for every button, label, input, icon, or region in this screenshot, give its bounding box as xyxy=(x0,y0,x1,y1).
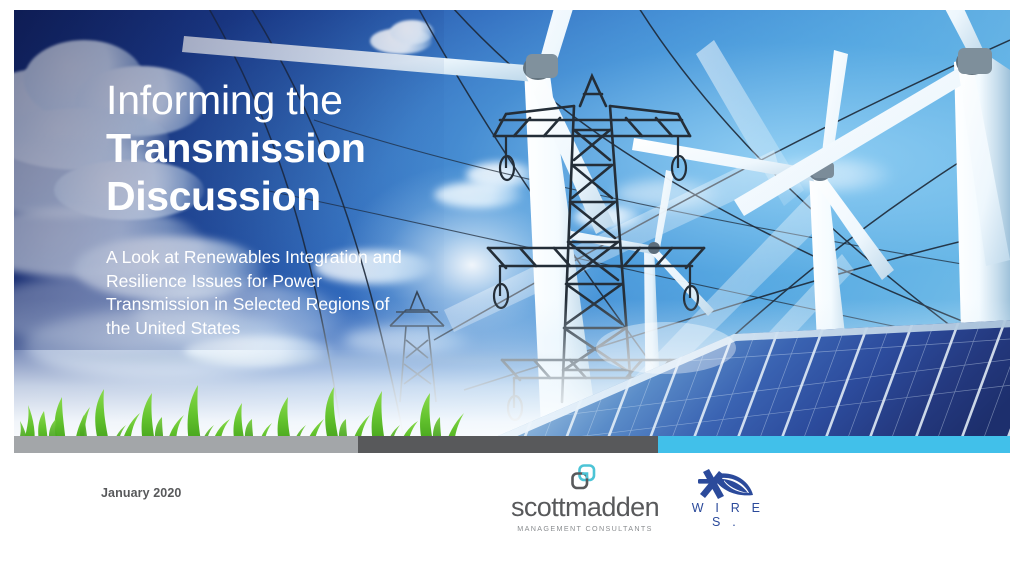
scottmadden-tagline: MANAGEMENT CONSULTANTS xyxy=(510,524,660,533)
wires-wordmark: W I R E S . xyxy=(678,501,774,529)
page-title-line3: Discussion xyxy=(106,172,436,220)
scottmadden-wordmark: scottmadden xyxy=(510,494,660,521)
color-bar-segment-light-gray xyxy=(14,436,358,453)
page-title-line2: Transmission xyxy=(106,124,436,172)
solar-panel-array xyxy=(434,310,1010,449)
scottmadden-mark-icon xyxy=(570,464,600,492)
publication-date: January 2020 xyxy=(101,486,181,500)
accent-color-bar xyxy=(14,436,1010,453)
footer: January 2020 scottmadden MANAGEMENT CONS… xyxy=(0,456,1024,576)
wires-logo: W I R E S . xyxy=(678,466,774,529)
page-subtitle: A Look at Renewables Integration and Res… xyxy=(106,246,406,340)
page-title-line1: Informing the xyxy=(106,76,436,124)
title-slide: Informing the Transmission Discussion A … xyxy=(0,0,1024,576)
title-block: Informing the Transmission Discussion A … xyxy=(106,76,436,340)
color-bar-segment-dark-gray xyxy=(358,436,658,453)
color-bar-segment-cyan xyxy=(658,436,1010,453)
wires-mark-icon xyxy=(695,466,757,500)
scottmadden-logo: scottmadden MANAGEMENT CONSULTANTS xyxy=(510,464,660,533)
